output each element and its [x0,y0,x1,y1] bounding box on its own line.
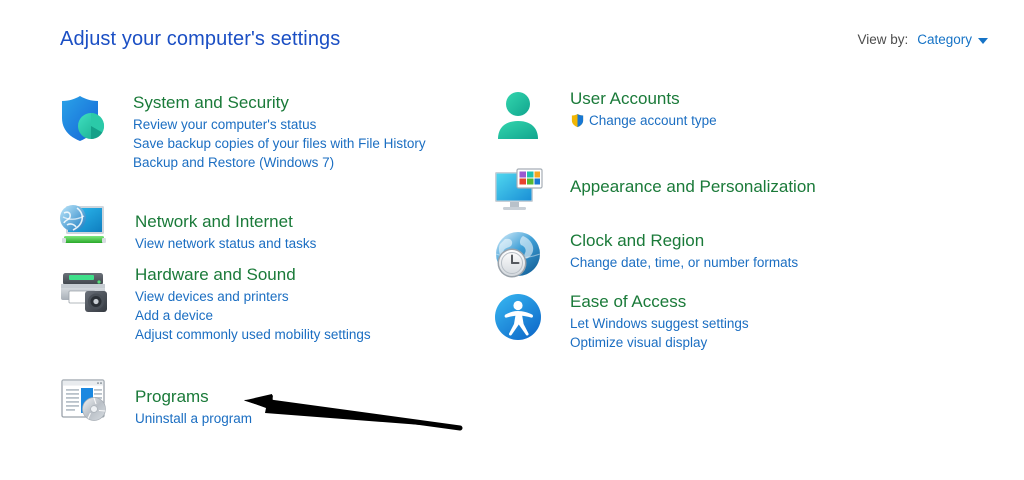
category-appearance-and-personalization[interactable]: Appearance and Personalization [492,163,816,215]
category-link[interactable]: Uninstall a program [135,409,252,428]
category-link[interactable]: Backup and Restore (Windows 7) [133,153,426,172]
shield-icon [55,92,107,144]
category-title[interactable]: Network and Internet [135,211,316,232]
category-link[interactable]: Optimize visual display [570,333,749,352]
category-link[interactable]: Let Windows suggest settings [570,314,749,333]
ease-of-access-icon [492,291,544,343]
control-panel-page: Adjust your computer's settings View by:… [0,0,1024,480]
category-clock-and-region[interactable]: Clock and Region Change date, time, or n… [492,230,798,282]
category-ease-of-access[interactable]: Ease of Access Let Windows suggest setti… [492,291,749,352]
category-text-block: Hardware and Sound View devices and prin… [135,264,371,344]
category-title[interactable]: Hardware and Sound [135,264,371,285]
pointer-arrow-to-programs [232,386,464,438]
category-link[interactable]: Change date, time, or number formats [570,253,798,272]
category-title[interactable]: Programs [135,386,252,407]
category-network-and-internet[interactable]: Network and Internet View network status… [57,198,316,253]
view-by-control: View by: Category [857,32,988,47]
category-programs[interactable]: Programs Uninstall a program [57,373,252,428]
category-hardware-and-sound[interactable]: Hardware and Sound View devices and prin… [57,264,371,344]
category-link[interactable]: Adjust commonly used mobility settings [135,325,371,344]
category-title[interactable]: Clock and Region [570,230,798,251]
category-text-block: User Accounts Change account type [570,88,717,130]
category-text-block: Network and Internet View network status… [135,198,316,253]
category-link[interactable]: Add a device [135,306,371,325]
category-title[interactable]: Ease of Access [570,291,749,312]
appearance-monitor-swatch-icon [492,163,544,215]
category-link[interactable]: View network status and tasks [135,234,316,253]
category-system-and-security[interactable]: System and Security Review your computer… [55,92,426,172]
page-title: Adjust your computer's settings [60,28,340,51]
category-link-label: Change account type [589,111,717,130]
category-link[interactable]: Save backup copies of your files with Fi… [133,134,426,153]
printer-speaker-icon [57,264,109,316]
category-text-block: System and Security Review your computer… [133,92,426,172]
category-title[interactable]: User Accounts [570,88,717,109]
category-text-block: Programs Uninstall a program [135,373,252,428]
category-text-block: Appearance and Personalization [570,163,816,199]
category-user-accounts[interactable]: User Accounts Change account type [492,88,717,140]
clock-globe-icon [492,230,544,282]
category-text-block: Ease of Access Let Windows suggest setti… [570,291,749,352]
uac-shield-icon [570,113,585,128]
user-account-icon [492,88,544,140]
category-title[interactable]: System and Security [133,92,426,113]
category-link[interactable]: Review your computer's status [133,115,426,134]
category-link-change-account-type[interactable]: Change account type [570,111,717,130]
chevron-down-icon[interactable] [978,38,988,44]
category-text-block: Clock and Region Change date, time, or n… [570,230,798,272]
view-by-label: View by: [857,32,908,47]
category-title[interactable]: Appearance and Personalization [570,176,816,197]
network-monitor-globe-icon [57,198,109,250]
view-by-value[interactable]: Category [917,32,972,47]
programs-window-disc-icon [57,373,109,425]
category-link[interactable]: View devices and printers [135,287,371,306]
